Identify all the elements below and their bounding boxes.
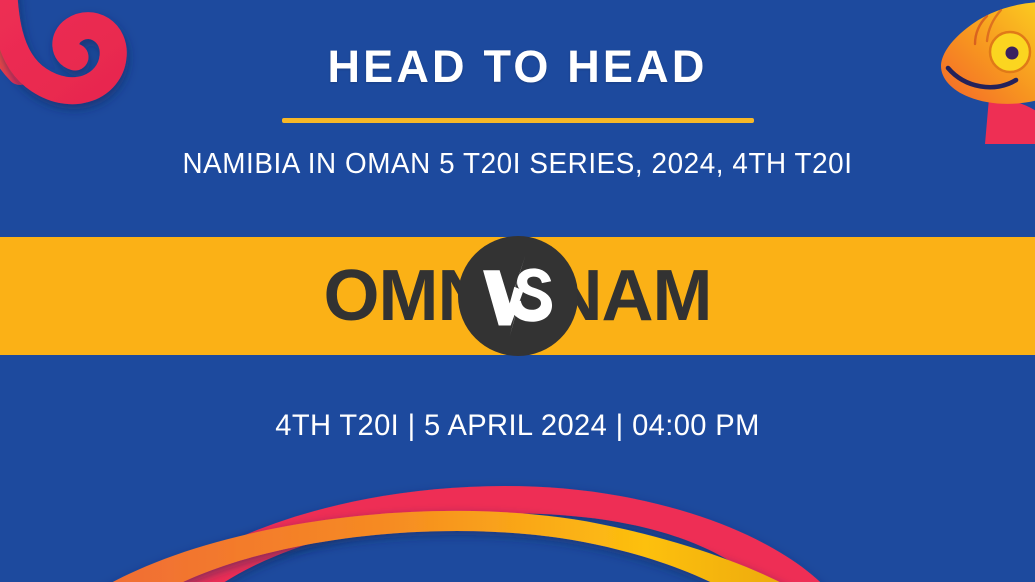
versus-badge — [458, 236, 578, 356]
versus-band: OMN NAM — [0, 237, 1035, 355]
arc-swoosh-icon — [0, 462, 1035, 582]
head-to-head-poster: HEAD TO HEAD NAMIBIA IN OMAN 5 T20I SERI… — [0, 0, 1035, 582]
versus-lightning-icon — [472, 250, 564, 342]
poster-header: HEAD TO HEAD NAMIBIA IN OMAN 5 T20I SERI… — [0, 0, 1035, 181]
series-subtitle: NAMIBIA IN OMAN 5 T20I SERIES, 2024, 4TH… — [21, 148, 1015, 181]
page-title: HEAD TO HEAD — [0, 44, 1035, 89]
title-divider — [282, 118, 754, 123]
match-details: 4TH T20I | 5 APRIL 2024 | 04:00 PM — [16, 409, 1020, 443]
